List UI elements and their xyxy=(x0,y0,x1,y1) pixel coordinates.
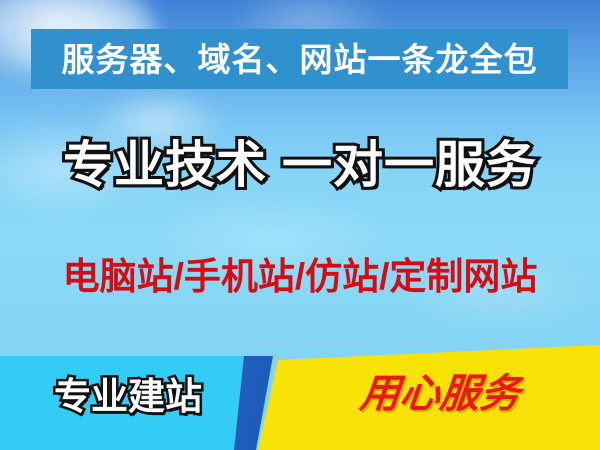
ribbon-right-label-text: 用心服务 xyxy=(358,374,522,414)
service-list-text: 电脑站/手机站/仿站/定制网站 xyxy=(63,258,538,295)
tagline-primary-text: 专业技术 一对一服务 xyxy=(63,140,537,190)
ribbon-left-label-text: 专业建站 xyxy=(54,378,202,415)
bottom-ribbon: 专业建站 用心服务 xyxy=(0,330,600,450)
promo-banner: 服务器、域名、网站一条龙全包 专业技术 一对一服务 电脑站/手机站/仿站/定制网… xyxy=(0,0,600,450)
ribbon-right-label: 用心服务 xyxy=(292,374,588,414)
tagline-primary: 专业技术 一对一服务 xyxy=(0,140,600,190)
headline-text: 服务器、域名、网站一条龙全包 xyxy=(62,43,538,76)
ribbon-left-label: 专业建站 xyxy=(14,378,242,415)
headline-band: 服务器、域名、网站一条龙全包 xyxy=(31,29,568,89)
service-list: 电脑站/手机站/仿站/定制网站 xyxy=(0,258,600,295)
